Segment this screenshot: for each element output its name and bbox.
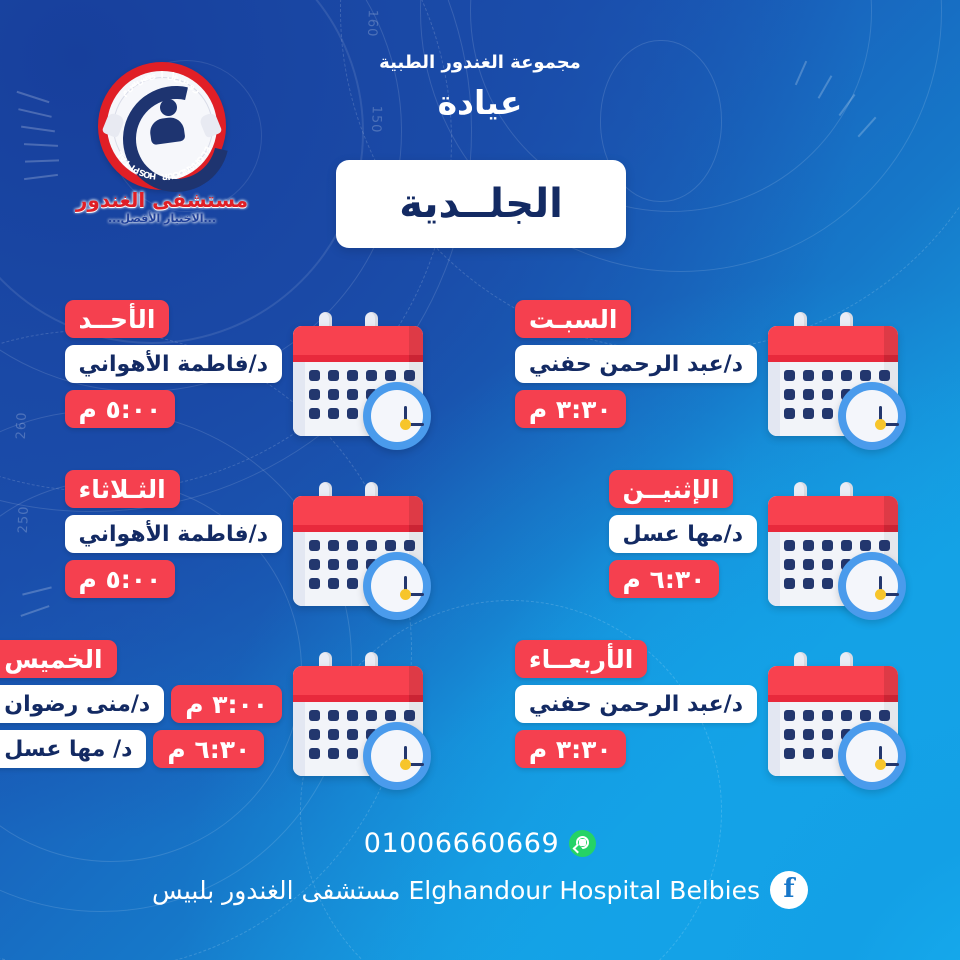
facebook-icon[interactable]: f [770, 871, 808, 909]
doctor-name-pill[interactable]: د/منى رضوان [0, 685, 164, 723]
clock-icon [363, 552, 431, 620]
calendar-header-line [293, 695, 423, 702]
bg-tick [24, 143, 58, 147]
day-name-pill-saturday[interactable]: السبـت [515, 300, 632, 338]
day-block-tuesday: الثـلاثاءد/فاطمة الأهواني٥:٠٠ م [55, 470, 455, 630]
clock-face [846, 730, 898, 782]
calendar-header-line [293, 525, 423, 532]
doctor-name-pill[interactable]: د/ مها عسل [0, 730, 146, 768]
whatsapp-row[interactable]: 01006660669 [0, 828, 960, 859]
calendar-clock-icon [285, 648, 430, 798]
doctor-name-pill[interactable]: د/عبد الرحمن حفني [515, 685, 757, 723]
doctor-name-pill[interactable]: د/مها عسل [609, 515, 757, 553]
clock-face [371, 560, 423, 612]
bg-tick [839, 94, 856, 116]
doctor-name-pill[interactable]: د/فاطمة الأهواني [65, 345, 283, 383]
clock-center-pin [400, 419, 411, 430]
bg-tick [18, 108, 52, 118]
logo-name-arabic: مستشفى الغندور [74, 188, 250, 212]
facebook-row[interactable]: f Elghandour Hospital Belbies مستشفى الغ… [0, 871, 960, 909]
clock-icon [363, 722, 431, 790]
clock-center-pin [875, 419, 886, 430]
day-entry-row: د/ مها عسل٦:٣٠ م [0, 730, 264, 768]
day-name-pill-thursday[interactable]: الخميس [0, 640, 117, 678]
appointment-time-pill[interactable]: ٥:٠٠ م [65, 560, 176, 598]
appointment-time-pill[interactable]: ٦:٣٠ م [153, 730, 264, 768]
day-block-sunday: الأحــدد/فاطمة الأهواني٥:٠٠ م [55, 300, 455, 460]
clock-icon [838, 382, 906, 450]
clock-center-pin [875, 759, 886, 770]
bg-tick [858, 117, 877, 138]
clock-face [846, 560, 898, 612]
calendar-clock-icon [760, 648, 905, 798]
day-block-wednesday: الأربعــاءد/عبد الرحمن حفني٣:٣٠ م [515, 640, 915, 800]
appointment-time-pill[interactable]: ٦:٣٠ م [609, 560, 720, 598]
bg-number: 160 [364, 9, 380, 37]
clock-icon [838, 552, 906, 620]
calendar-header-line [293, 355, 423, 362]
calendar-header-line [768, 355, 898, 362]
appointment-time-pill[interactable]: ٥:٠٠ م [65, 390, 176, 428]
day-name-pill-tuesday[interactable]: الثـلاثاء [65, 470, 180, 508]
calendar-header-line [768, 525, 898, 532]
clock-face [846, 390, 898, 442]
day-pills-tuesday: الثـلاثاءد/فاطمة الأهواني٥:٠٠ م [65, 470, 283, 598]
whatsapp-icon[interactable] [569, 830, 596, 857]
day-pills-monday: الإثنيــند/مها عسل٦:٣٠ م [609, 470, 757, 598]
day-block-saturday: السبـتد/عبد الرحمن حفني٣:٣٠ م [515, 300, 915, 460]
bg-tick [795, 61, 807, 86]
clock-center-pin [400, 759, 411, 770]
bg-tick [17, 91, 50, 103]
facebook-page-name: Elghandour Hospital Belbies مستشفى الغند… [152, 876, 760, 905]
logo-arc-char [159, 172, 162, 182]
clock-face [371, 390, 423, 442]
appointment-time-pill[interactable]: ٣:٣٠ م [515, 730, 626, 768]
doctor-name-pill[interactable]: د/عبد الرحمن حفني [515, 345, 757, 383]
hospital-logo: مستشفى الغندور ELGHANDOUR HOSPITAL مستشف… [74, 62, 250, 232]
bg-tick [22, 586, 52, 595]
bg-tick [24, 174, 58, 180]
clock-center-pin [875, 589, 886, 600]
calendar-clock-icon [285, 478, 430, 628]
clock-center-pin [400, 589, 411, 600]
clinic-title-box: الجلــدية [336, 160, 626, 248]
phone-number: 01006660669 [364, 828, 560, 859]
calendar-header-line [768, 695, 898, 702]
logo-arc-bottom-text: ELGHANDOUR HOSPITAL [98, 62, 226, 190]
poster-canvas: 160 150 260 250 مستشفى الغندور ELGHANDOU… [0, 0, 960, 960]
header-block: مجموعة الغندور الطبية عيادة [330, 52, 630, 122]
day-name-pill-monday[interactable]: الإثنيــن [609, 470, 734, 508]
clock-icon [838, 722, 906, 790]
appointment-time-pill[interactable]: ٣:٣٠ م [515, 390, 626, 428]
bg-number: 250 [16, 505, 32, 533]
day-name-pill-wednesday[interactable]: الأربعــاء [515, 640, 648, 678]
group-name: مجموعة الغندور الطبية [330, 52, 630, 73]
doctor-name-pill[interactable]: د/فاطمة الأهواني [65, 515, 283, 553]
facebook-page-name-arabic: مستشفى الغندور بلبيس [152, 876, 401, 905]
calendar-clock-icon [760, 478, 905, 628]
appointment-time-pill[interactable]: ٣:٠٠ م [171, 685, 282, 723]
day-entry-row: د/منى رضوان٣:٠٠ م [0, 685, 282, 723]
footer: 01006660669 f Elghandour Hospital Belbie… [0, 828, 960, 909]
bg-tick [818, 75, 833, 99]
bg-number: 260 [14, 411, 30, 439]
day-name-pill-sunday[interactable]: الأحــد [65, 300, 170, 338]
calendar-clock-icon [760, 308, 905, 458]
day-block-thursday: الخميسد/منى رضوان٣:٠٠ مد/ مها عسل٦:٣٠ م [55, 640, 455, 800]
clock-face [371, 730, 423, 782]
bg-tick [25, 159, 59, 162]
bg-tick [20, 605, 49, 617]
day-pills-thursday: الخميسد/منى رضوان٣:٠٠ مد/ مها عسل٦:٣٠ م [0, 640, 282, 768]
logo-tagline: ...الاختيار الأفضل... [74, 212, 250, 225]
day-pills-wednesday: الأربعــاءد/عبد الرحمن حفني٣:٣٠ م [515, 640, 757, 768]
facebook-page-name-latin: Elghandour Hospital Belbies [409, 876, 761, 905]
clinic-word: عيادة [330, 83, 630, 122]
clock-icon [363, 382, 431, 450]
calendar-clock-icon [285, 308, 430, 458]
bg-tick [21, 126, 55, 133]
day-block-monday: الإثنيــند/مها عسل٦:٣٠ م [515, 470, 915, 630]
day-pills-sunday: الأحــدد/فاطمة الأهواني٥:٠٠ م [65, 300, 283, 428]
day-pills-saturday: السبـتد/عبد الرحمن حفني٣:٣٠ م [515, 300, 757, 428]
clinic-title: الجلــدية [399, 181, 563, 227]
facebook-glyph: f [783, 876, 794, 902]
